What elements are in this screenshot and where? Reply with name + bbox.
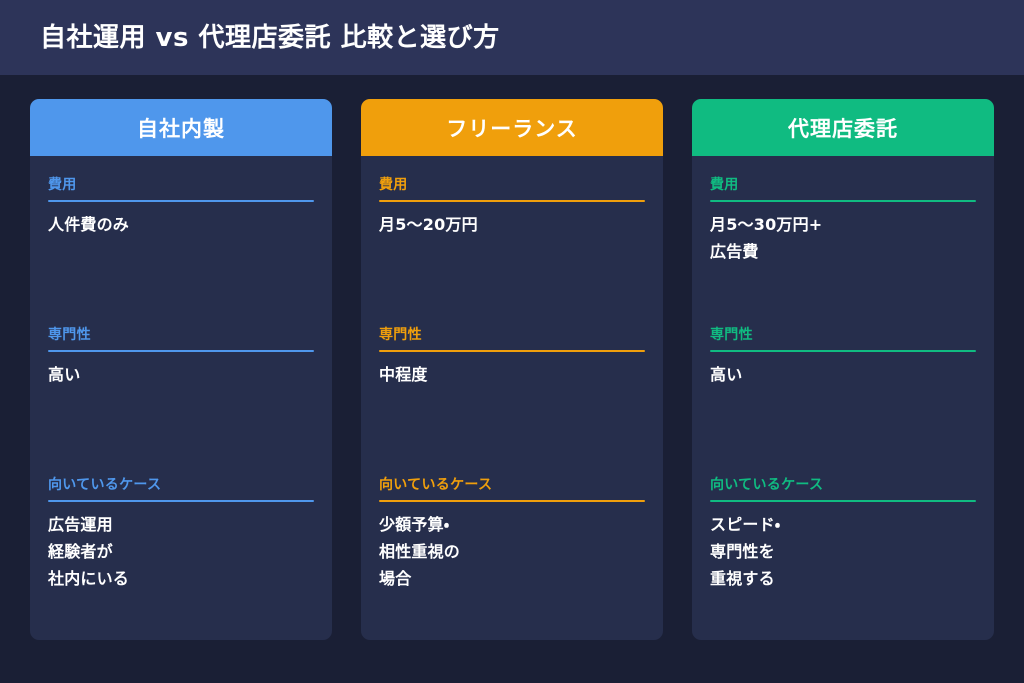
card-header-freelance: フリーランス [361, 99, 663, 156]
row-values-best-for: 少額予算・相性重視の場合 [379, 502, 645, 592]
row-label-cost: 費用 [710, 178, 976, 200]
card-body-agency: 費用 月5〜30万円+広告費 専門性 高い 向いているケース スピード・専門性を… [692, 156, 994, 640]
row-value-line: 月5〜30万円+ [710, 211, 976, 238]
row-value-line: 月5〜20万円 [379, 211, 645, 238]
comparison-card-agency[interactable]: 代理店委託 費用 月5〜30万円+広告費 専門性 高い 向いているケース スピー… [692, 99, 994, 640]
row-label-cost: 費用 [379, 178, 645, 200]
row-value-line: 高い [710, 361, 976, 388]
row-value-line: 相性重視の [379, 538, 645, 565]
row-value-line: 広告費 [710, 238, 976, 265]
row-label-expertise: 専門性 [379, 328, 645, 350]
row-values-cost: 月5〜30万円+広告費 [710, 202, 976, 265]
card-row-best-for: 向いているケース スピード・専門性を重視する [710, 478, 976, 628]
row-label-best-for: 向いているケース [379, 478, 645, 500]
row-value-line: 広告運用 [48, 511, 314, 538]
comparison-card-freelance[interactable]: フリーランス 費用 月5〜20万円 専門性 中程度 向いているケース 少額予算・… [361, 99, 663, 640]
row-value-line: 場合 [379, 565, 645, 592]
row-values-cost: 月5〜20万円 [379, 202, 645, 238]
card-row-best-for: 向いているケース 広告運用経験者が社内にいる [48, 478, 314, 628]
row-value-line: 社内にいる [48, 565, 314, 592]
comparison-card-in-house[interactable]: 自社内製 費用 人件費のみ 専門性 高い 向いているケース 広告運用経験者が社内… [30, 99, 332, 640]
row-value-line: 人件費のみ [48, 211, 314, 238]
row-values-best-for: 広告運用経験者が社内にいる [48, 502, 314, 592]
card-row-expertise: 専門性 中程度 [379, 328, 645, 478]
row-value-line: 中程度 [379, 361, 645, 388]
card-header-in-house: 自社内製 [30, 99, 332, 156]
row-value-line: スピード・ [710, 511, 976, 538]
row-value-line: 少額予算・ [379, 511, 645, 538]
card-row-cost: 費用 月5〜30万円+広告費 [710, 178, 976, 328]
row-value-line: 専門性を [710, 538, 976, 565]
row-value-line: 高い [48, 361, 314, 388]
row-label-best-for: 向いているケース [48, 478, 314, 500]
title-band: 自社運用 vs 代理店委託 比較と選び方 [0, 0, 1024, 75]
row-values-expertise: 高い [710, 352, 976, 388]
row-label-expertise: 専門性 [710, 328, 976, 350]
card-row-expertise: 専門性 高い [710, 328, 976, 478]
row-label-best-for: 向いているケース [710, 478, 976, 500]
card-header-agency: 代理店委託 [692, 99, 994, 156]
row-values-best-for: スピード・専門性を重視する [710, 502, 976, 592]
comparison-card-grid: 自社内製 費用 人件費のみ 専門性 高い 向いているケース 広告運用経験者が社内… [30, 99, 994, 640]
card-body-in-house: 費用 人件費のみ 専門性 高い 向いているケース 広告運用経験者が社内にいる [30, 156, 332, 640]
row-values-expertise: 中程度 [379, 352, 645, 388]
row-values-expertise: 高い [48, 352, 314, 388]
row-value-line: 重視する [710, 565, 976, 592]
card-row-best-for: 向いているケース 少額予算・相性重視の場合 [379, 478, 645, 628]
card-row-expertise: 専門性 高い [48, 328, 314, 478]
row-label-cost: 費用 [48, 178, 314, 200]
card-row-cost: 費用 月5〜20万円 [379, 178, 645, 328]
card-body-freelance: 費用 月5〜20万円 専門性 中程度 向いているケース 少額予算・相性重視の場合 [361, 156, 663, 640]
card-row-cost: 費用 人件費のみ [48, 178, 314, 328]
row-values-cost: 人件費のみ [48, 202, 314, 238]
row-label-expertise: 専門性 [48, 328, 314, 350]
page-title: 自社運用 vs 代理店委託 比較と選び方 [40, 25, 500, 51]
row-value-line: 経験者が [48, 538, 314, 565]
